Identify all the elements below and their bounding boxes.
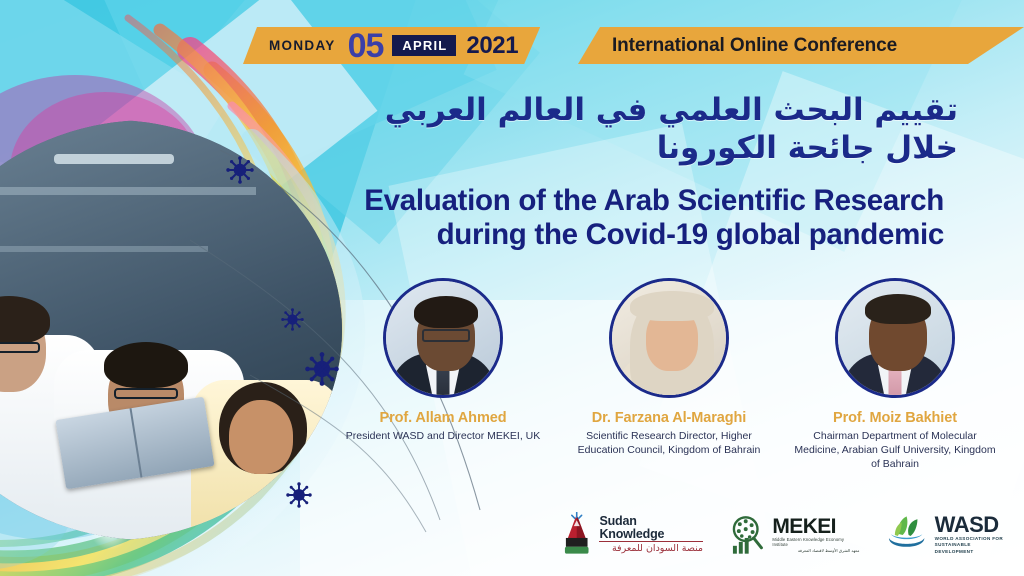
conference-banner-label: International Online Conference — [612, 35, 897, 57]
date-year: 2021 — [466, 32, 518, 60]
mekei-icon — [729, 514, 766, 556]
avatar — [835, 278, 955, 398]
date-banner: MONDAY 05 APRIL 2021 — [243, 27, 540, 64]
sudan-knowledge-name: Sudan Knowledge — [599, 515, 703, 541]
logo-row: Sudan Knowledge منصة السودان للمعرفة — [560, 506, 1010, 564]
coronavirus-icon — [281, 308, 304, 331]
speaker-card: Prof. Moiz Bakhiet Chairman Department o… — [782, 278, 1008, 472]
speaker-role: Scientific Research Director, Higher Edu… — [564, 430, 774, 458]
speaker-name: Dr. Farzana Al-Maraghi — [592, 410, 746, 426]
coronavirus-icon — [286, 482, 312, 508]
date-day: 05 — [348, 29, 384, 63]
speaker-card: Prof. Allam Ahmed President WASD and Dir… — [330, 278, 556, 472]
title-arabic-line1: تقييم البحث العلمي في العالم العربي — [278, 92, 958, 130]
title-english-line2: during the Covid-19 global pandemic — [244, 218, 944, 252]
logo-mekei: MEKEI Middle Eastern Knowledge Economy I… — [729, 514, 859, 556]
avatar — [383, 278, 503, 398]
coronavirus-icon — [226, 156, 254, 184]
speaker-card: Dr. Farzana Al-Maraghi Scientific Resear… — [556, 278, 782, 472]
wasd-subtitle-line2: SUSTAINABLE DEVELOPMENT — [935, 542, 1010, 554]
title-arabic: تقييم البحث العلمي في العالم العربي خلال… — [278, 92, 958, 168]
title-arabic-line2: خلال جائحة الكورونا — [278, 130, 958, 168]
conference-banner: International Online Conference — [578, 27, 1024, 64]
sudan-knowledge-icon — [560, 512, 593, 558]
title-english: Evaluation of the Arab Scientific Resear… — [244, 184, 944, 252]
logo-sudan-knowledge: Sudan Knowledge منصة السودان للمعرفة — [560, 512, 703, 558]
title-english-line1: Evaluation of the Arab Scientific Resear… — [244, 184, 944, 218]
date-weekday: MONDAY — [269, 38, 336, 53]
mekei-subtitle: Middle Eastern Knowledge Economy Institu… — [772, 537, 859, 548]
speaker-name: Prof. Allam Ahmed — [380, 410, 507, 426]
conference-poster: MONDAY 05 APRIL 2021 International Onlin… — [0, 0, 1024, 576]
speakers-row: Prof. Allam Ahmed President WASD and Dir… — [330, 278, 1010, 472]
date-month: APRIL — [392, 35, 456, 56]
speaker-name: Prof. Moiz Bakhiet — [833, 410, 957, 426]
wasd-icon — [885, 514, 928, 556]
speaker-role: President WASD and Director MEKEI, UK — [338, 430, 548, 444]
logo-wasd: WASD WORLD ASSOCIATION FOR SUSTAINABLE D… — [885, 514, 1010, 556]
sudan-knowledge-arabic: منصة السودان للمعرفة — [599, 541, 703, 554]
speaker-role: Chairman Department of Molecular Medicin… — [790, 430, 1000, 472]
mekei-name: MEKEI — [772, 517, 859, 537]
mekei-arabic: معهد الشرق الأوسط لاقتصاد المعرفة — [772, 548, 859, 553]
wasd-name: WASD — [935, 515, 1010, 536]
avatar — [609, 278, 729, 398]
